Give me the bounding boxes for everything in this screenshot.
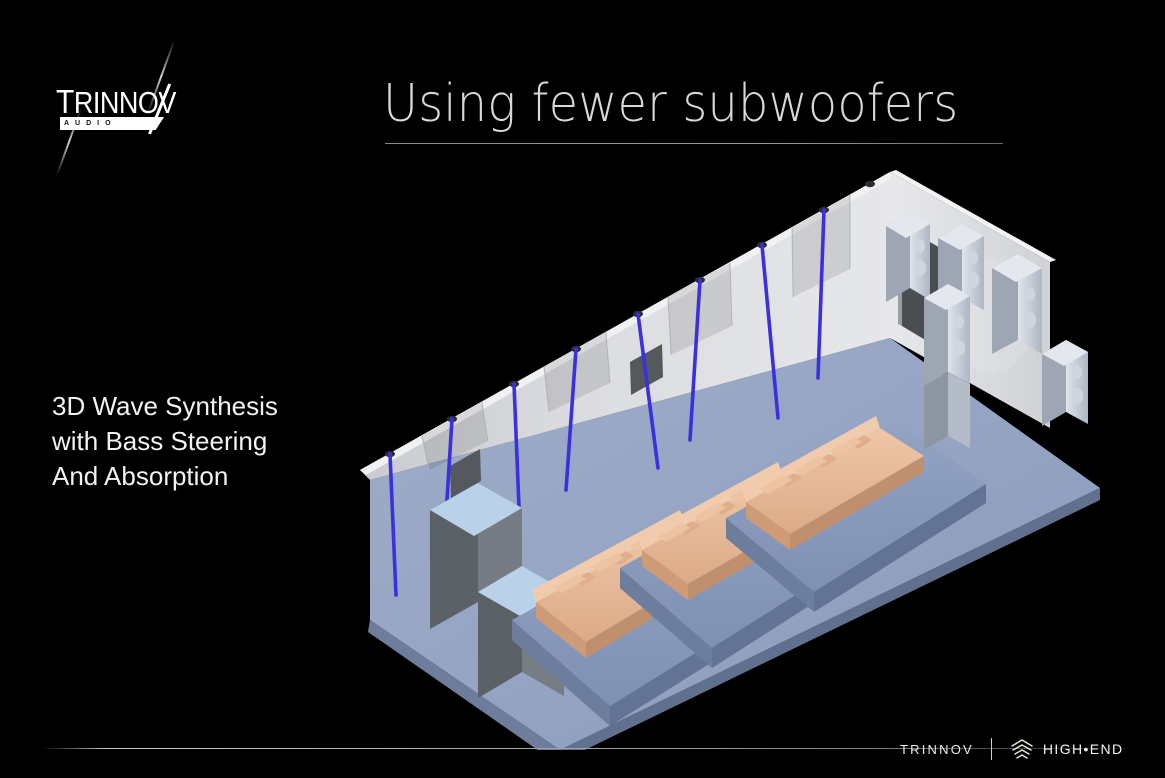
speaker-cabinet [992,254,1042,354]
brand-logo: TRINNOV AUDIO [48,34,198,179]
caption-line-3: And Absorption [52,459,352,494]
body-caption: 3D Wave Synthesis with Bass Steering And… [52,389,352,494]
footer-partner: HIGH•END [1043,741,1124,757]
logo-mark: TRINNOV AUDIO [56,86,178,132]
caption-line-1: 3D Wave Synthesis [52,389,352,424]
speaker-cabinet [924,284,970,450]
speaker-cabinet [886,212,930,302]
speaker-cabinet [1042,340,1088,426]
footer-divider [991,738,992,760]
caption-line-2: with Bass Steering [52,424,352,459]
cinema-room-3d-render [330,150,1120,750]
logo-wordmark-t: T [56,84,74,121]
slide-root: TRINNOV AUDIO Using fewer subwoofers 3D … [0,0,1165,778]
footer-bar: TRINNOV HIGH•END [900,736,1124,762]
stacked-chevron-icon [1009,738,1035,760]
title-underline [385,143,1003,144]
footer-brand: TRINNOV [900,742,974,757]
page-title: Using fewer subwoofers [383,74,958,134]
logo-subtext: AUDIO [64,118,162,129]
